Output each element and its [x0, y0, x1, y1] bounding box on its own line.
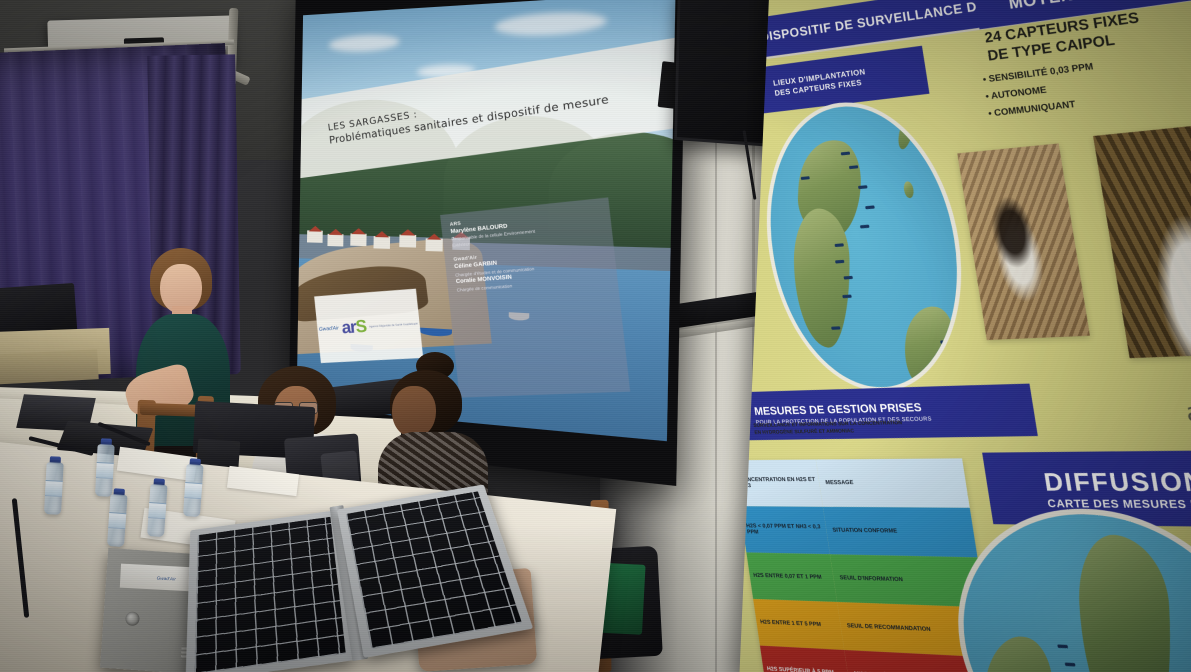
banner-map-diffusion: [939, 508, 1191, 672]
ars-logo-subtitle: Agence Régionale de Santé Guadeloupe: [369, 322, 418, 328]
solar-panel-left: [186, 510, 356, 672]
diffusion-map-pin: [1065, 663, 1076, 667]
seated-bun-face: [392, 386, 436, 438]
map-pin: [860, 225, 870, 229]
table-row: H2S < 0,07 PPM ET NH3 < 0,3 PPM SITUATIO…: [740, 506, 978, 557]
island-basse-terre: [793, 207, 851, 350]
table-header-row: CONCENTRATION EN H2S ET NH3 MESSAGE: [739, 458, 970, 507]
ars-logo: arS: [341, 320, 367, 335]
bottle-label: [108, 512, 126, 529]
diffusion-map-pin: [1057, 645, 1068, 649]
solar-cells-left: [195, 517, 346, 672]
map-pin: [842, 295, 851, 299]
bottle-label: [148, 502, 166, 519]
banner-photo-sargassum: [1093, 123, 1191, 358]
lock-icon: [125, 611, 140, 626]
map-pin: [835, 243, 844, 247]
table-cell-range: H2S SUPÉRIEUR À 5 PPM: [760, 646, 852, 672]
map-pin: [865, 205, 875, 209]
bottle-label: [45, 480, 63, 497]
wall-seam-secondary: [715, 140, 717, 672]
solar-cells-right: [346, 491, 522, 649]
map-pin: [843, 276, 852, 280]
diffusion-island-b: [977, 627, 1058, 672]
bottle-label: [96, 462, 114, 479]
diffusion-island-a: [1075, 530, 1177, 672]
banner-photo-sampling: [957, 143, 1089, 340]
ars-logo-s: S: [355, 317, 367, 337]
map-pin: [831, 326, 840, 330]
banner-map-guadeloupe: [749, 91, 982, 394]
island-marie-galante: [899, 301, 958, 393]
bottle-label: [184, 482, 202, 499]
island-la-desirade: [896, 115, 916, 151]
table-cell-message: SITUATION CONFORME: [823, 507, 977, 558]
slide-logo-group: Gwad'Air arS Agence Régionale de Santé G…: [314, 289, 423, 364]
table-header-col2: MESSAGE: [816, 458, 970, 507]
banner-ars-logo: ars: [1184, 399, 1191, 440]
rollup-banner: DISPOSITIF DE SURVEILLANCE DES GAZ LIEUX…: [739, 0, 1191, 672]
table-cell-range: H2S ENTRE 1 ET 5 PPM: [753, 599, 844, 650]
map-pin: [858, 185, 868, 189]
map-pin: [940, 340, 950, 344]
table-header-col1: CONCENTRATION EN H2S ET NH3: [739, 459, 823, 506]
left-wooden-desk-lower: [0, 349, 99, 385]
banner-diffusion-title: DIFFUSION: [1042, 466, 1191, 497]
map-pin: [835, 260, 844, 264]
banner-capteurs-bullets: • SENSIBILITÉ 0,03 PPM • AUTONOME • COMM…: [982, 58, 1101, 122]
table-cell-range: H2S < 0,07 PPM ET NH3 < 0,3 PPM: [740, 506, 831, 554]
photo-scene: LES SARGASSES : Problématiques sanitaire…: [0, 0, 1191, 672]
table-cell-range: H2S ENTRE 0,07 ET 1 PPM: [746, 552, 837, 602]
gwadair-logo: Gwad'Air: [319, 326, 339, 332]
island-petite-terre: [903, 181, 915, 199]
